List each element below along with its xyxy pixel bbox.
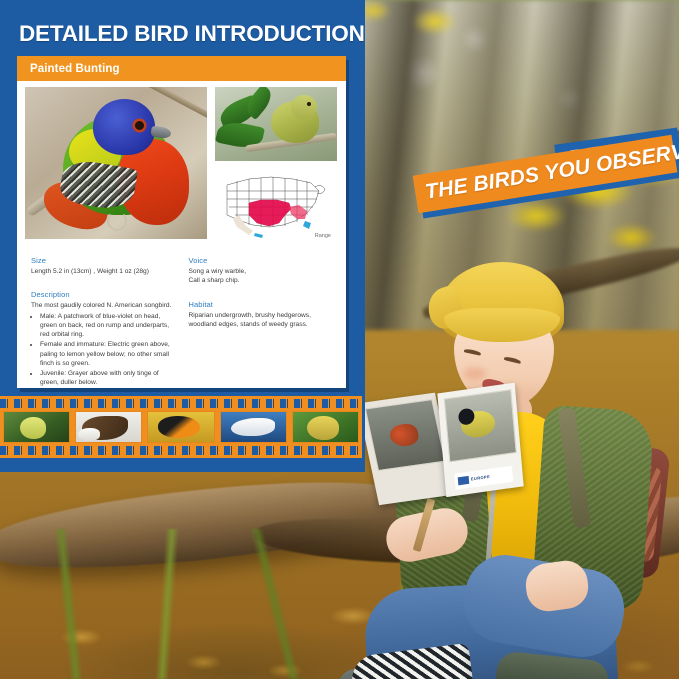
filmstrip-frame-4: [220, 411, 287, 443]
bird-head-blue: [93, 99, 155, 155]
female-bunting-eye: [307, 102, 311, 106]
filmstrip-frame-3: [147, 411, 214, 443]
range-map-svg: [219, 169, 333, 239]
bird-eye: [135, 121, 144, 130]
habitat-body: Riparian undergrowth, brushy hedgerows, …: [189, 311, 333, 330]
filmstrip-frames: [0, 411, 362, 443]
description-bullet: Female and immature: Electric green abov…: [40, 340, 175, 368]
open-bird-book: EUROPE: [362, 383, 532, 509]
size-heading: Size: [31, 256, 175, 265]
card-text-area: Size Length 5.2 in (13cm) , Weight 1 oz …: [17, 248, 346, 388]
range-map-label: Range: [315, 233, 331, 239]
book-page-right: EUROPE: [437, 383, 523, 497]
voice-heading: Voice: [189, 256, 333, 265]
bird-info-card: Painted Bunting: [17, 56, 346, 388]
description-bullet: Male: A patchwork of blue-violet on head…: [40, 312, 175, 340]
filmstrip-frame-5: [292, 411, 359, 443]
size-body: Length 5.2 in (13cm) , Weight 1 oz (28g): [31, 267, 175, 276]
bird-name: Painted Bunting: [17, 63, 120, 75]
card-column-right: Voice Song a wiry warble, Call a sharp c…: [189, 256, 333, 388]
spacer: [189, 286, 333, 300]
range-map: Range: [219, 169, 333, 239]
panel-bottom-band: [0, 456, 365, 472]
book-caption-swatch: [458, 476, 470, 486]
book-photo-robin: [365, 399, 446, 471]
female-bunting-head: [291, 95, 317, 119]
boy-cheek: [464, 367, 486, 380]
habitat-heading: Habitat: [189, 300, 333, 309]
description-heading: Description: [31, 290, 175, 299]
filmstrip-perforations-top: [0, 399, 362, 408]
filmstrip-perforations-bottom: [0, 446, 362, 455]
card-media-area: Range: [17, 81, 346, 247]
bird-main-photo: [25, 87, 207, 239]
book-photo-great-tit: [444, 389, 517, 462]
bird-secondary-photo: [215, 87, 337, 161]
filmstrip-frame-2: [75, 411, 142, 443]
card-header: Painted Bunting: [17, 56, 346, 81]
spacer: [31, 276, 175, 290]
filmstrip-frame-1: [3, 411, 70, 443]
voice-body: Song a wiry warble, Call a sharp chip.: [189, 267, 333, 286]
filmstrip: [0, 396, 362, 458]
card-column-left: Size Length 5.2 in (13cm) , Weight 1 oz …: [31, 256, 175, 388]
poster-image: EUROPE DETAILED BIRD INTRODUCTION Painte…: [0, 0, 679, 679]
book-caption: EUROPE: [454, 466, 513, 490]
description-bullet: Juvenile: Grayer above with only tinge o…: [40, 369, 175, 388]
description-intro: The most gaudily colored N. American son…: [31, 301, 175, 310]
bird-foot: [107, 211, 127, 231]
page-title: DETAILED BIRD INTRODUCTION: [19, 21, 365, 47]
description-bullets: Male: A patchwork of blue-violet on head…: [31, 312, 175, 388]
